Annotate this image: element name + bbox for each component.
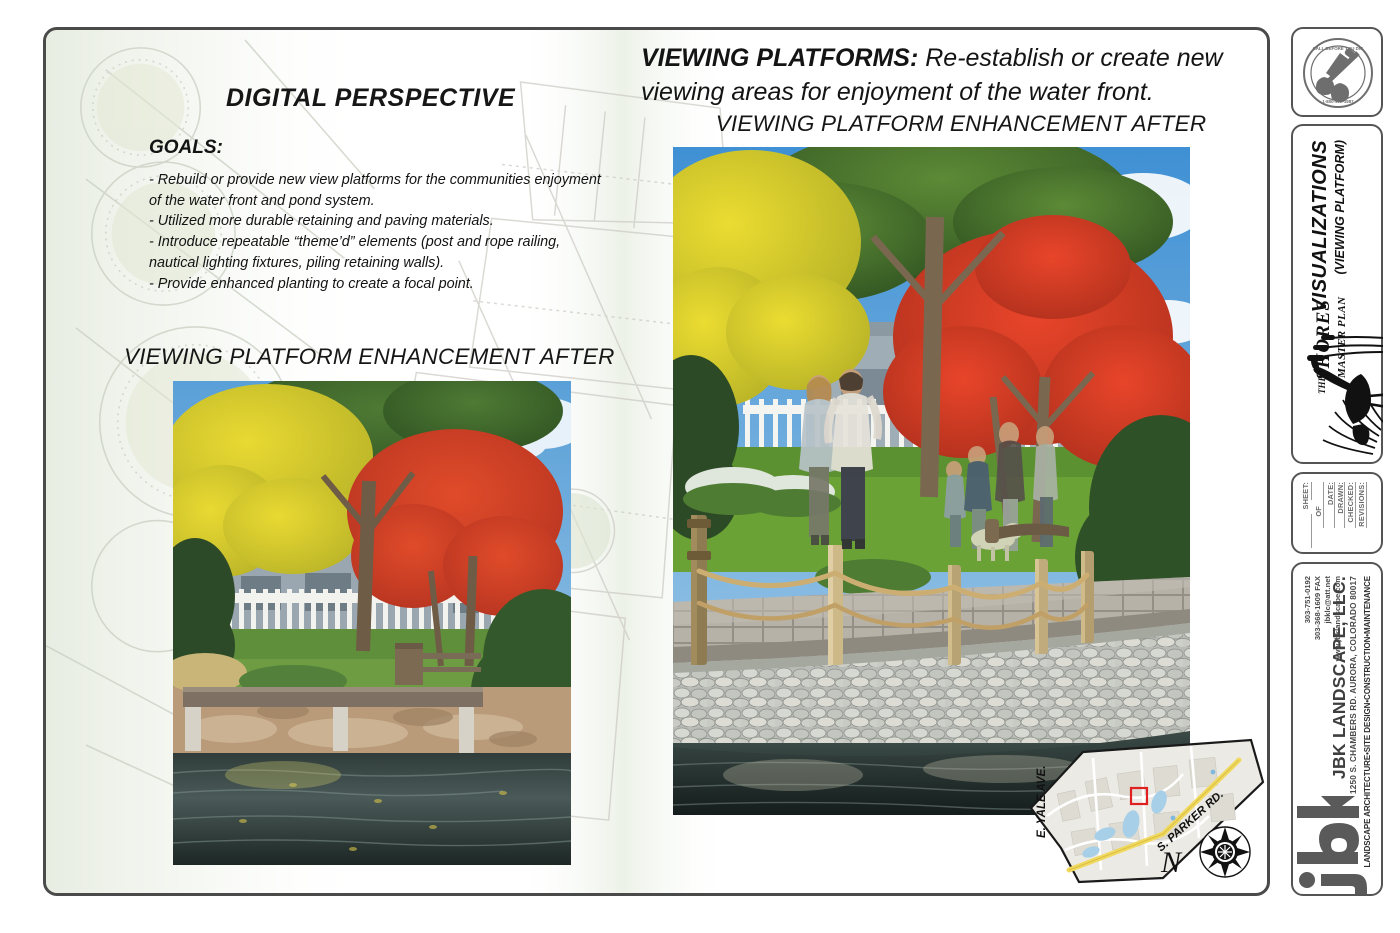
of-label: OF	[1314, 506, 1323, 517]
compass-rose-icon	[1200, 827, 1250, 877]
digital-perspective-heading: DIGITAL PERSPECTIVE	[226, 84, 515, 113]
goals-line: of the water front and pond system.	[149, 191, 669, 212]
sheet-body: DIGITAL PERSPECTIVE VIEWING PLATFORMS: R…	[43, 27, 1270, 896]
vicinity-map: E. YALE AVE. S. PARKER RD. N	[1013, 730, 1268, 885]
svg-text:1-800-922-1987: 1-800-922-1987	[1322, 99, 1354, 104]
caption-left-photo: VIEWING PLATFORM ENHANCEMENT AFTER	[124, 344, 615, 370]
firm-address: 1250 S. CHAMBERS RD. AURORA, COLORADO 80…	[1349, 576, 1358, 794]
utility-notification-icon: CALL BEFORE YOU DIG 1-800-922-1987	[1300, 35, 1376, 111]
north-letter: N	[1160, 846, 1183, 879]
svg-text:CALL BEFORE YOU DIG: CALL BEFORE YOU DIG	[1313, 46, 1364, 51]
goals-line: - Rebuild or provide new view platforms …	[149, 170, 669, 191]
project-title-block: VISUALIZATIONS (VIEWING PLATFORM)	[1291, 124, 1383, 464]
goals-block: GOALS: - Rebuild or provide new view pla…	[149, 137, 669, 294]
checked-label: CHECKED:	[1346, 482, 1355, 523]
call-before-you-dig-logo: CALL BEFORE YOU DIG 1-800-922-1987	[1291, 27, 1383, 117]
sheet-info-fields[interactable]: SHEET: OF DATE: DRAWN: CHECKED: REVISION…	[1299, 480, 1379, 550]
goals-line: - Utilized more durable retaining and pa…	[149, 211, 669, 232]
goals-line: - Provide enhanced planting to create a …	[149, 274, 669, 295]
sheet-label: SHEET:	[1301, 482, 1310, 509]
viewing-platforms-title-bold: VIEWING PLATFORMS:	[641, 44, 918, 72]
viewing-platform-existing-photo	[173, 381, 571, 865]
shores-logo-line2: SHORES	[1313, 299, 1334, 380]
caption-right-photo: VIEWING PLATFORM ENHANCEMENT AFTER	[701, 111, 1221, 137]
firm-title-block: JBK LANDSCAPE, LLC. 1250 S. CHAMBERS RD.…	[1291, 562, 1383, 896]
project-subtitle: (VIEWING PLATFORM)	[1333, 140, 1347, 274]
goals-line: nautical lighting fixtures, piling retai…	[149, 253, 669, 274]
sheet-info-block[interactable]: SHEET: OF DATE: DRAWN: CHECKED: REVISION…	[1291, 472, 1383, 554]
goals-title: GOALS:	[149, 137, 669, 159]
jbk-logo-mark	[1291, 796, 1387, 900]
presentation-board: DIGITAL PERSPECTIVE VIEWING PLATFORMS: R…	[0, 0, 1400, 933]
shores-logo-line3: MASTER PLAN	[1336, 296, 1348, 379]
vicinity-street-left: E. YALE AVE.	[1036, 766, 1048, 838]
viewing-platform-rendering-photo	[673, 147, 1190, 815]
goals-line: - Introduce repeatable “theme’d” element…	[149, 232, 669, 253]
firm-website[interactable]: www.jbklandscape.com	[1333, 576, 1344, 661]
the-shores-master-plan-logo: THE SHORES MASTER PLAN	[1295, 276, 1383, 462]
viewing-platforms-title: VIEWING PLATFORMS: Re-establish or creat…	[641, 42, 1241, 110]
revisions-label: REVISIONS:	[1357, 482, 1366, 527]
